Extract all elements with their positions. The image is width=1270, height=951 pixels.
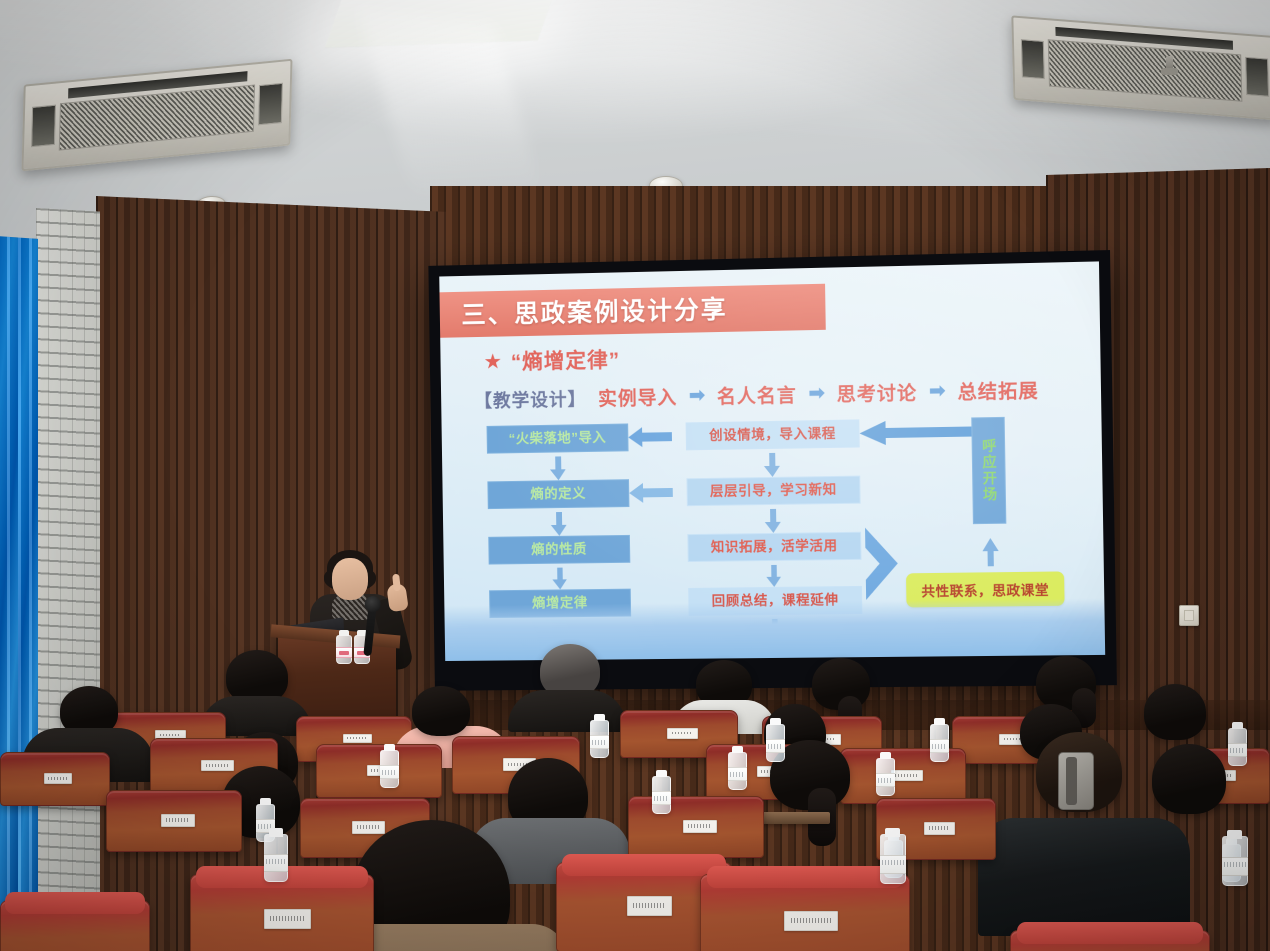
teaching-design-label: 【教学设计】: [474, 385, 586, 413]
attendee-head: [1152, 744, 1226, 814]
design-step-3: 思考讨论: [836, 378, 917, 407]
desk-surface: [756, 812, 830, 824]
water-bottle: [652, 770, 671, 814]
design-step-2: 名人名言: [717, 380, 797, 408]
arrow-down-icon: [766, 619, 783, 641]
water-bottle: [876, 752, 895, 796]
water-bottle: [1222, 830, 1248, 888]
design-step-1: 实例导入: [598, 383, 678, 411]
arrow-down-icon: [764, 453, 781, 477]
seat[interactable]: [1010, 930, 1210, 951]
slide-header-text: 三、思政案例设计分享: [461, 296, 728, 330]
flow-box-center-3: 知识拓展，活学活用: [687, 532, 861, 562]
arrow-left-icon: [628, 427, 672, 453]
flow-box-left-3: 熵的性质: [488, 535, 630, 565]
water-bottle: [1228, 722, 1247, 766]
seat[interactable]: [0, 752, 110, 806]
seat[interactable]: [106, 790, 242, 852]
slide-bullet-title: “熵增定律”: [511, 344, 621, 376]
arrow-down-icon: [550, 456, 567, 480]
arrow-down-icon: [765, 509, 782, 533]
arrow-down-icon: [552, 568, 569, 590]
sprinkler-head-icon: [1166, 56, 1173, 72]
arrow-right-icon: ➡: [929, 380, 945, 403]
presenter-finger: [392, 574, 401, 592]
star-icon: ★: [483, 351, 502, 372]
audience-seating: [0, 648, 1270, 951]
arrow-right-icon: ➡: [809, 382, 825, 405]
chevron-right-icon: [863, 527, 900, 605]
arrow-up-icon: [981, 538, 999, 566]
water-bottle: [380, 744, 399, 788]
water-bottle: [930, 718, 949, 762]
presenter-head: [332, 558, 368, 600]
flow-box-center-4: 回顾总结，课程延伸: [688, 586, 862, 616]
flow-box-left-4: 熵增定律: [489, 589, 631, 618]
flow-box-left-2: 熵的定义: [487, 479, 629, 509]
highlight-box: 共性联系，思政课堂: [906, 571, 1065, 607]
arrow-down-icon: [551, 512, 568, 536]
seat[interactable]: [628, 796, 764, 858]
attendee-body: [978, 818, 1190, 936]
arrow-right-icon: ➡: [689, 384, 705, 407]
arrow-down-icon: [765, 565, 782, 587]
projector-screen: 三、思政案例设计分享 ★ “熵增定律” 【教学设计】 实例导入 ➡ 名人名言 ➡…: [428, 250, 1117, 691]
hair-clip: [1058, 752, 1094, 810]
lecture-hall-scene: 三、思政案例设计分享 ★ “熵增定律” 【教学设计】 实例导入 ➡ 名人名言 ➡…: [0, 0, 1270, 951]
flow-box-vertical-text: 呼应开场: [980, 438, 997, 503]
seat[interactable]: [190, 874, 374, 951]
teaching-design-row: 【教学设计】 实例导入 ➡ 名人名言 ➡ 思考讨论 ➡ 总结拓展: [474, 375, 1083, 413]
slide-header-banner: 三、思政案例设计分享: [440, 284, 826, 338]
seat[interactable]: [316, 744, 442, 798]
water-bottle: [766, 718, 785, 762]
attendee-head: [1144, 684, 1206, 740]
seat[interactable]: [700, 874, 910, 951]
flow-box-center-2: 层层引导，学习新知: [686, 476, 860, 507]
attendee-head: [412, 686, 470, 736]
water-bottle: [264, 828, 288, 884]
water-bottle: [728, 746, 747, 790]
arrow-left-long-icon: [859, 419, 978, 450]
flow-box-center-1: 创设情境，导入课程: [686, 419, 860, 450]
water-bottle: [880, 828, 906, 886]
arrow-left-icon: [629, 482, 673, 508]
flowchart: “火柴落地”导入 熵的定义 熵的性质 熵增定律: [442, 413, 1105, 643]
presentation-slide: 三、思政案例设计分享 ★ “熵增定律” 【教学设计】 实例导入 ➡ 名人名言 ➡…: [439, 261, 1105, 661]
seat[interactable]: [0, 900, 150, 951]
flow-box-vertical: 呼应开场: [971, 417, 1006, 524]
wall-outlet-icon: [1179, 605, 1199, 626]
design-step-4: 总结拓展: [957, 376, 1039, 405]
flow-box-left-1: “火柴落地”导入: [487, 423, 629, 453]
water-bottle: [590, 714, 609, 758]
slide-bullet: ★ “熵增定律”: [483, 344, 620, 376]
